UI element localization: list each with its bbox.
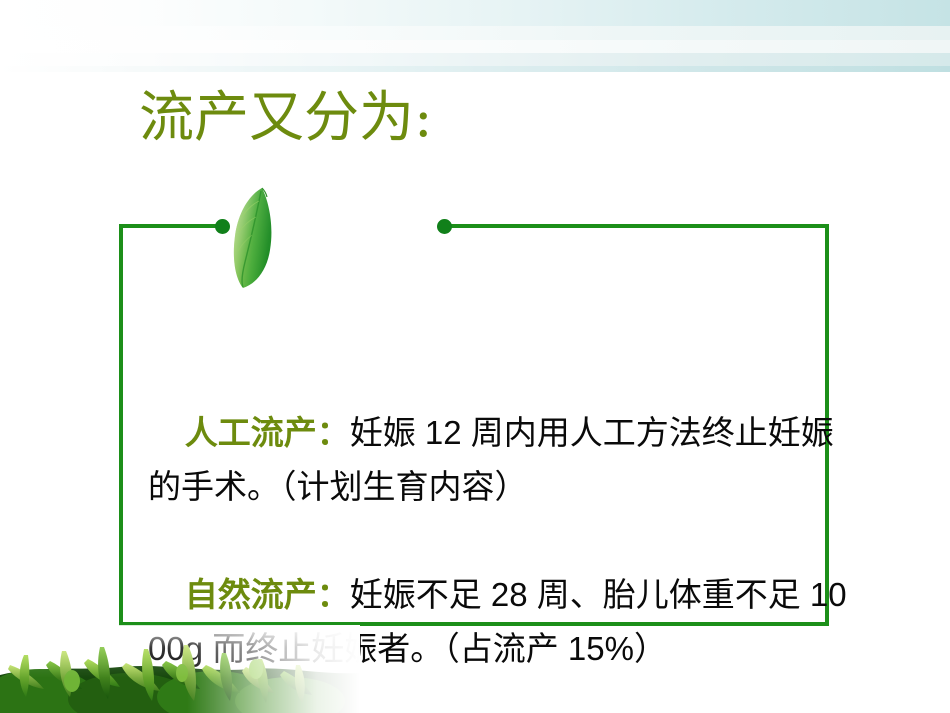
banner-band-4 [0,53,950,66]
paragraph-lead-2: 自然流产 [185,576,317,613]
grass-photo [0,625,360,713]
banner-band-5 [0,66,950,72]
frame-dot-right-icon [437,219,452,234]
frame-edge-left [119,224,123,626]
slide-title: 流产又分为: [139,86,433,148]
paragraph-sep-2: ： [317,576,350,613]
frame-dot-left-icon [215,219,230,234]
banner-band-2 [0,26,950,40]
banner-band-3 [0,40,950,53]
frame-edge-top-left [119,224,227,228]
frame-edge-top-right [446,224,829,228]
slide-canvas: 流产又分为: [0,0,950,713]
top-banner [0,0,950,72]
banner-band-1 [0,0,950,26]
leaf-icon [229,186,277,290]
paragraph-sep-1: ： [317,414,350,451]
paragraph-lead-1: 人工流产 [185,414,317,451]
